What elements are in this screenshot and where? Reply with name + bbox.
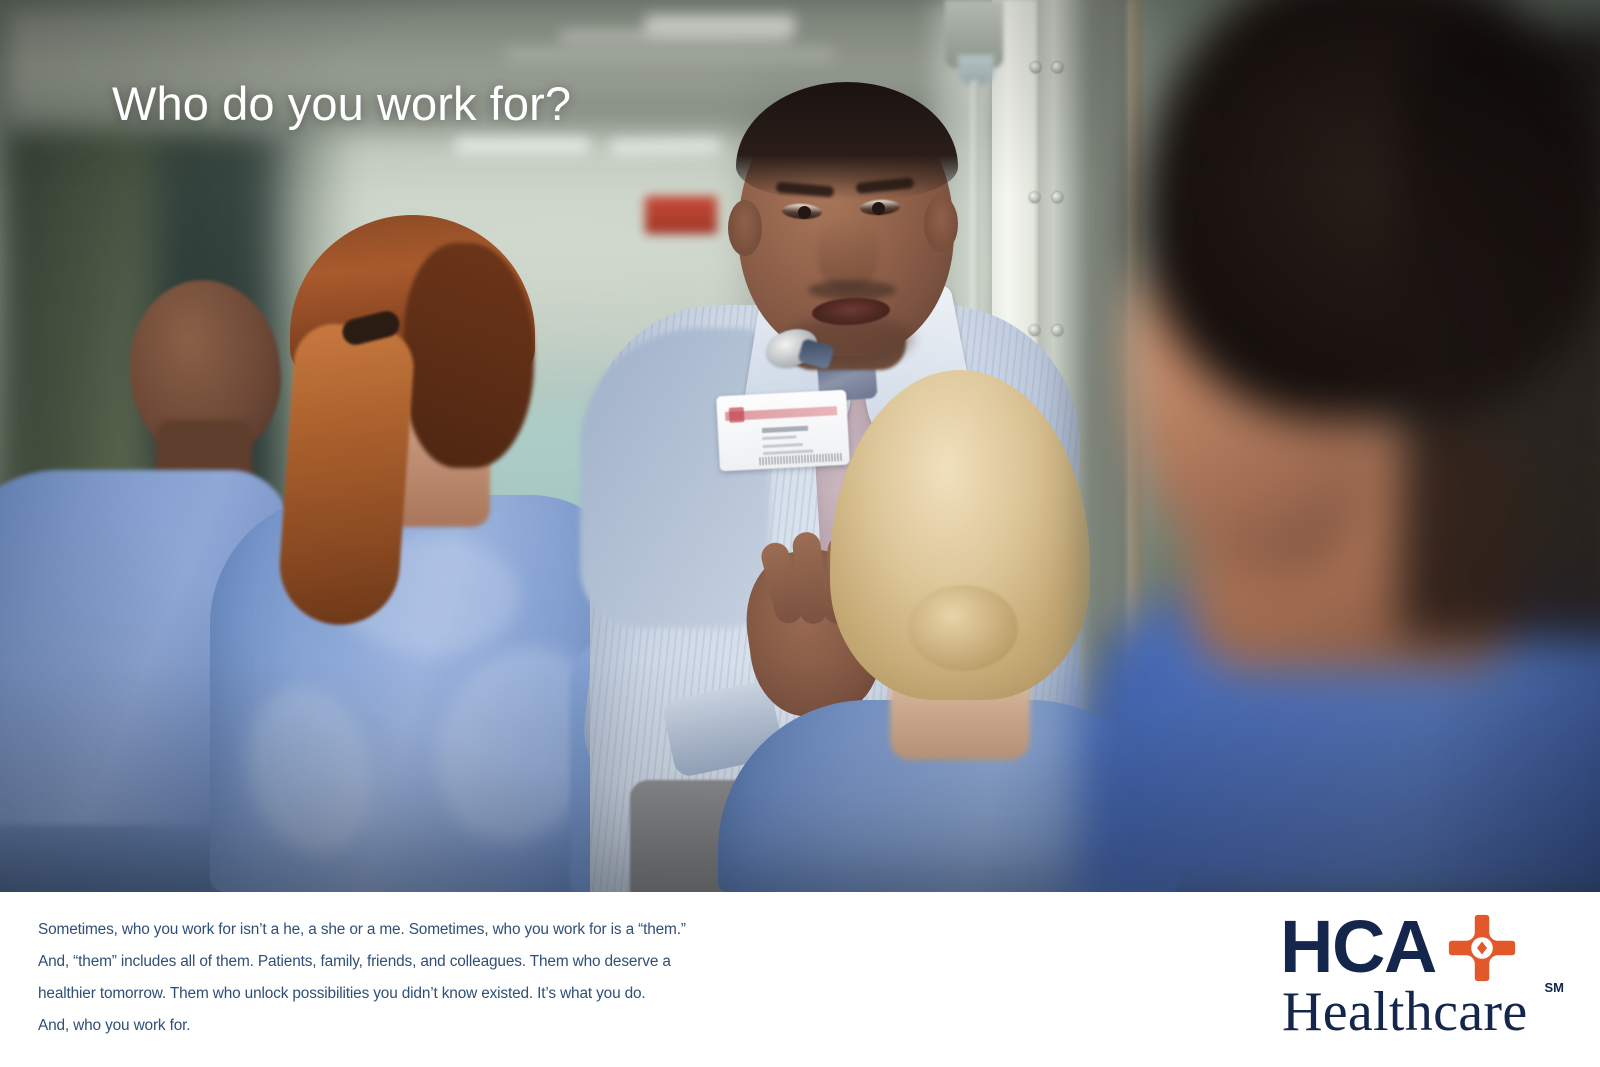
hca-healthcare-advertisement: Who do you work for? Sometimes, who you … — [0, 0, 1600, 1067]
logo-subword: Healthcare — [1282, 984, 1527, 1040]
foreground-shoulder — [1400, 20, 1600, 640]
man-ear-right — [924, 196, 958, 252]
page-title: Who do you work for? — [112, 78, 571, 130]
ponytail-tail — [276, 321, 417, 629]
hca-healthcare-logo: HCA Healthcare SM — [1272, 900, 1562, 1042]
ponytail-hair-side — [404, 243, 534, 468]
ceiling-light-far — [645, 15, 795, 35]
screw — [1030, 62, 1041, 73]
logo-service-mark: SM — [1545, 980, 1565, 995]
foreground-staff-right — [1100, 0, 1600, 892]
body-line-4: And, who you work for. — [38, 1010, 718, 1042]
logo-top-row: HCA — [1280, 910, 1518, 984]
pupil-left — [798, 206, 811, 219]
body-line-2: And, “them” includes all of them. Patien… — [38, 946, 718, 978]
blonde-bun — [908, 585, 1018, 671]
footer-bar: Sometimes, who you work for isn’t a he, … — [0, 892, 1600, 1067]
body-line-3: healthier tomorrow. Them who unlock poss… — [38, 978, 718, 1010]
screw — [1052, 62, 1063, 73]
man-ear-left — [728, 200, 762, 256]
ceiling-light-strip — [505, 50, 835, 59]
body-copy: Sometimes, who you work for isn’t a he, … — [38, 914, 718, 1042]
hospital-corridor-photo: Who do you work for? — [0, 0, 1600, 892]
man-hair — [736, 82, 958, 200]
logo-wordmark: HCA — [1280, 910, 1436, 984]
hca-cross-mark-icon — [1446, 912, 1518, 984]
pupil-right — [872, 202, 885, 215]
body-line-1: Sometimes, who you work for isn’t a he, … — [38, 914, 718, 946]
